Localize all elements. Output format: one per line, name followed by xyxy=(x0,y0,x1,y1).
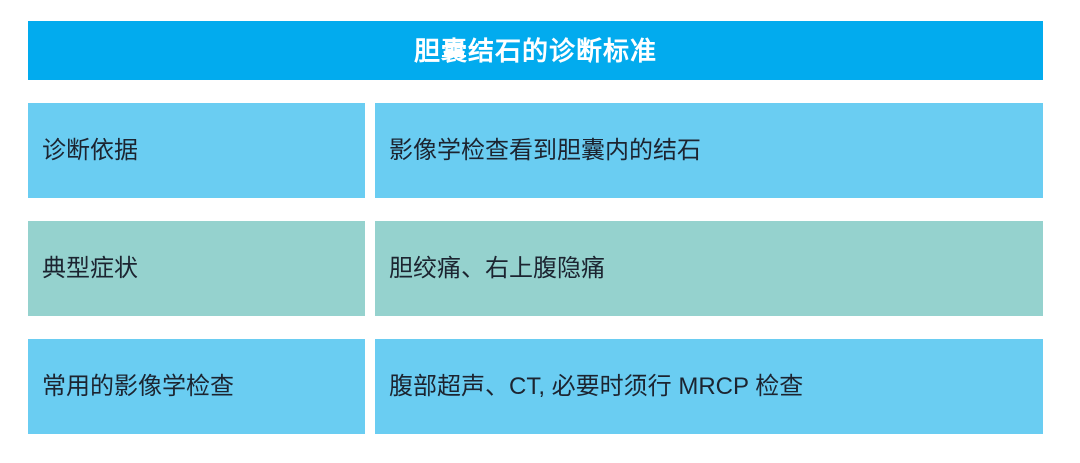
table-body: 诊断依据 影像学检查看到胆囊内的结石 典型症状 胆绞痛、右上腹隐痛 常用的影像学… xyxy=(28,103,1043,434)
row-label-cell: 常用的影像学检查 xyxy=(28,339,365,434)
row-value-cell: 影像学检查看到胆囊内的结石 xyxy=(375,103,1043,198)
table-row: 常用的影像学检查 腹部超声、CT, 必要时须行 MRCP 检查 xyxy=(28,339,1043,434)
row-label-cell: 诊断依据 xyxy=(28,103,365,198)
row-value-cell: 腹部超声、CT, 必要时须行 MRCP 检查 xyxy=(375,339,1043,434)
table-row: 诊断依据 影像学检查看到胆囊内的结石 xyxy=(28,103,1043,198)
table-row: 典型症状 胆绞痛、右上腹隐痛 xyxy=(28,221,1043,316)
table-header-banner: 胆囊结石的诊断标准 xyxy=(28,21,1043,80)
table-title: 胆囊结石的诊断标准 xyxy=(414,38,657,64)
diagnostic-criteria-table: 胆囊结石的诊断标准 诊断依据 影像学检查看到胆囊内的结石 典型症状 胆绞痛、右上… xyxy=(28,21,1043,432)
row-label-cell: 典型症状 xyxy=(28,221,365,316)
row-value-cell: 胆绞痛、右上腹隐痛 xyxy=(375,221,1043,316)
